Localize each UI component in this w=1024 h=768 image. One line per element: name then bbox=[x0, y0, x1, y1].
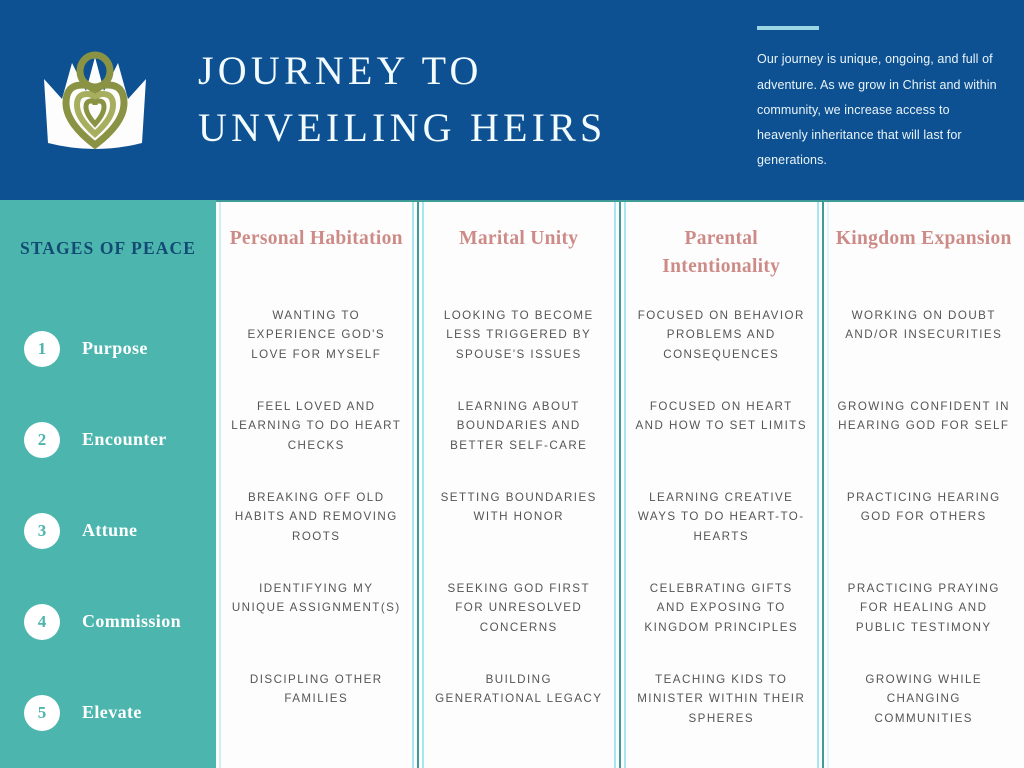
cell-text: Identifying my unique assignment(s) bbox=[230, 579, 403, 618]
matrix-cell: Growing confident in hearing God for sel… bbox=[824, 397, 1024, 488]
matrix-columns: Personal Habitation Wanting to experienc… bbox=[216, 200, 1024, 768]
cell-text: Teaching kids to minister within their s… bbox=[635, 670, 808, 728]
sidebar-title: STAGES OF PEACE bbox=[0, 238, 216, 259]
stage-label: Purpose bbox=[82, 338, 148, 359]
matrix-cell: Feel loved and learning to do heart chec… bbox=[216, 397, 417, 488]
stage-number-badge: 2 bbox=[24, 422, 60, 458]
cell-text: Seeking God first for unresolved concern… bbox=[433, 579, 606, 637]
cell-text: Building generational legacy bbox=[433, 670, 606, 709]
stage-label: Attune bbox=[82, 520, 137, 541]
cell-text: Looking to become less triggered by spou… bbox=[433, 306, 606, 364]
page-title: JOURNEY TO UNVEILING HEIRS bbox=[190, 43, 660, 157]
stage-label: Encounter bbox=[82, 429, 167, 450]
matrix-cell: Looking to become less triggered by spou… bbox=[419, 306, 620, 397]
matrix-cell: Growing while changing communities bbox=[824, 670, 1024, 761]
cell-text: Wanting to experience God's love for mys… bbox=[230, 306, 403, 364]
matrix-cell: Working on doubt and/or insecurities bbox=[824, 306, 1024, 397]
sidebar-item-purpose[interactable]: 1 Purpose bbox=[0, 303, 216, 394]
matrix-cell: Breaking off old habits and removing roo… bbox=[216, 488, 417, 579]
matrix-cell: Building generational legacy bbox=[419, 670, 620, 761]
cell-text: Practicing praying for healing and publi… bbox=[838, 579, 1011, 637]
stage-label: Commission bbox=[82, 611, 181, 632]
sidebar-item-elevate[interactable]: 5 Elevate bbox=[0, 667, 216, 758]
page-header: JOURNEY TO UNVEILING HEIRS Our journey i… bbox=[0, 0, 1024, 200]
cell-text: Setting boundaries with honor bbox=[433, 488, 606, 527]
tagline-text: Our journey is unique, ongoing, and full… bbox=[757, 47, 1004, 173]
matrix-cell: Identifying my unique assignment(s) bbox=[216, 579, 417, 670]
logo bbox=[0, 0, 190, 200]
title-line-2: UNVEILING HEIRS bbox=[198, 100, 660, 157]
cell-text: Celebrating gifts and exposing to kingdo… bbox=[635, 579, 808, 637]
matrix-cell: Teaching kids to minister within their s… bbox=[621, 670, 822, 761]
cell-text: Growing confident in hearing God for sel… bbox=[838, 397, 1011, 436]
matrix-cell: Learning about boundaries and better sel… bbox=[419, 397, 620, 488]
column-marital-unity: Marital Unity Looking to become less tri… bbox=[417, 202, 620, 768]
body-area: STAGES OF PEACE 1 Purpose 2 Encounter 3 … bbox=[0, 200, 1024, 768]
cell-text: Practicing hearing God for others bbox=[838, 488, 1011, 527]
matrix-cell: Celebrating gifts and exposing to kingdo… bbox=[621, 579, 822, 670]
cell-text: Working on doubt and/or insecurities bbox=[838, 306, 1011, 345]
cell-text: Focused on heart and how to set limits bbox=[635, 397, 808, 436]
stages-sidebar: STAGES OF PEACE 1 Purpose 2 Encounter 3 … bbox=[0, 200, 216, 768]
matrix-cell: Learning creative ways to do heart-to-he… bbox=[621, 488, 822, 579]
stage-list: 1 Purpose 2 Encounter 3 Attune 4 Commiss… bbox=[0, 303, 216, 758]
title-line-1: JOURNEY TO bbox=[198, 43, 660, 100]
matrix-cell: Seeking God first for unresolved concern… bbox=[419, 579, 620, 670]
column-header-text: Kingdom Expansion bbox=[836, 225, 1012, 253]
column-header: Parental Intentionality bbox=[621, 225, 822, 306]
matrix-cell: Practicing praying for healing and publi… bbox=[824, 579, 1024, 670]
sidebar-item-encounter[interactable]: 2 Encounter bbox=[0, 394, 216, 485]
column-parental-intentionality: Parental Intentionality Focused on behav… bbox=[619, 202, 822, 768]
sidebar-item-attune[interactable]: 3 Attune bbox=[0, 485, 216, 576]
matrix-cell: Focused on behavior problems and consequ… bbox=[621, 306, 822, 397]
cell-text: Feel loved and learning to do heart chec… bbox=[230, 397, 403, 455]
column-personal-habitation: Personal Habitation Wanting to experienc… bbox=[216, 202, 417, 768]
cell-text: Discipling other families bbox=[230, 670, 403, 709]
tagline-block: Our journey is unique, ongoing, and full… bbox=[660, 26, 1024, 173]
cell-text: Focused on behavior problems and consequ… bbox=[635, 306, 808, 364]
tagline-rule bbox=[757, 26, 819, 30]
stage-number-badge: 1 bbox=[24, 331, 60, 367]
stage-number-badge: 4 bbox=[24, 604, 60, 640]
column-header: Kingdom Expansion bbox=[824, 225, 1024, 306]
matrix-cell: Focused on heart and how to set limits bbox=[621, 397, 822, 488]
matrix-cell: Discipling other families bbox=[216, 670, 417, 761]
cell-text: Growing while changing communities bbox=[838, 670, 1011, 728]
column-header: Personal Habitation bbox=[216, 225, 417, 306]
stage-label: Elevate bbox=[82, 702, 142, 723]
infographic-page: JOURNEY TO UNVEILING HEIRS Our journey i… bbox=[0, 0, 1024, 768]
crown-heart-logo-icon bbox=[36, 47, 154, 153]
column-header-text: Parental Intentionality bbox=[633, 225, 810, 280]
column-header: Marital Unity bbox=[419, 225, 620, 306]
cell-text: Breaking off old habits and removing roo… bbox=[230, 488, 403, 546]
cell-text: Learning about boundaries and better sel… bbox=[433, 397, 606, 455]
sidebar-item-commission[interactable]: 4 Commission bbox=[0, 576, 216, 667]
matrix-cell: Wanting to experience God's love for mys… bbox=[216, 306, 417, 397]
cell-text: Learning creative ways to do heart-to-he… bbox=[635, 488, 808, 546]
stage-number-badge: 3 bbox=[24, 513, 60, 549]
column-header-text: Marital Unity bbox=[459, 225, 578, 253]
column-kingdom-expansion: Kingdom Expansion Working on doubt and/o… bbox=[822, 202, 1024, 768]
column-header-text: Personal Habitation bbox=[230, 225, 403, 253]
stage-number-badge: 5 bbox=[24, 695, 60, 731]
matrix-cell: Practicing hearing God for others bbox=[824, 488, 1024, 579]
matrix-cell: Setting boundaries with honor bbox=[419, 488, 620, 579]
